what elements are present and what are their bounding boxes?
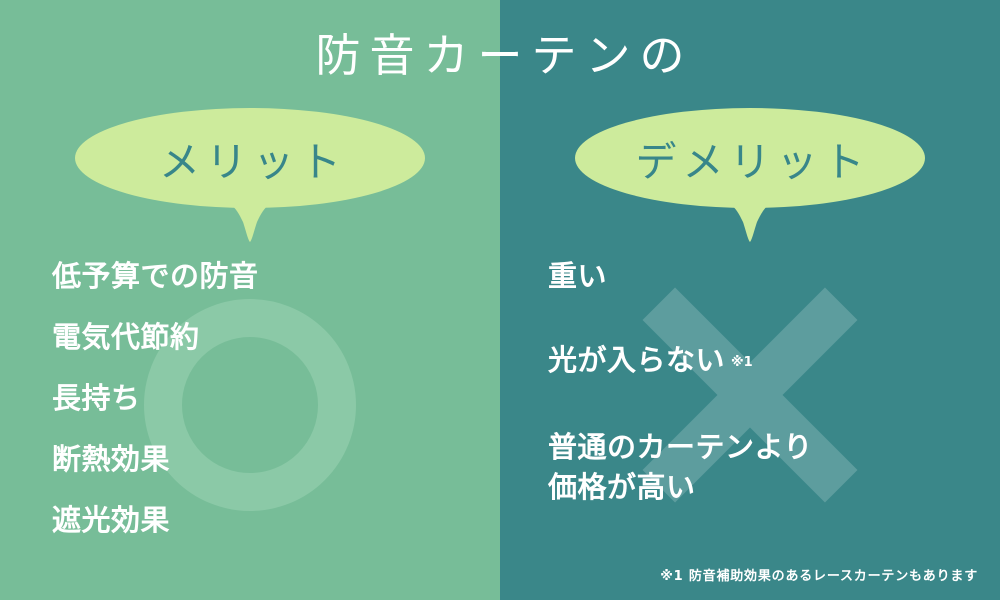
merit-bubble-label: メリット: [75, 108, 425, 208]
demerit-bubble: デメリット: [575, 108, 925, 208]
list-item: 長持ち: [52, 378, 452, 418]
list-item: 光が入らない※1: [548, 340, 948, 383]
footnote-marker: ※1: [731, 355, 753, 370]
demerit-item-text-line2: 価格が高い: [548, 467, 948, 507]
merit-item-text: 低予算での防音: [52, 259, 259, 293]
list-item: 重い: [548, 256, 948, 296]
infographic-canvas: 防音カーテンの メリット デメリット 低予算での防音 電気代節約 長持ち: [0, 0, 1000, 600]
list-item: 遮光効果: [52, 500, 452, 540]
demerit-list: 重い 光が入らない※1 普通のカーテンより 価格が高い: [548, 256, 948, 507]
merit-item-text: 長持ち: [52, 381, 141, 415]
list-item: 断熱効果: [52, 439, 452, 479]
demerit-item-text: 重い: [548, 259, 607, 293]
merit-item-text: 遮光効果: [52, 503, 170, 537]
footnote-text: ※1 防音補助効果のあるレースカーテンもあります: [660, 565, 978, 584]
list-item: 普通のカーテンより 価格が高い: [548, 427, 948, 507]
demerit-item-text: 普通のカーテンより: [548, 430, 813, 464]
merit-item-text: 電気代節約: [52, 320, 200, 354]
page-title: 防音カーテンの: [0, 26, 1000, 86]
demerit-bubble-label: デメリット: [575, 108, 925, 208]
merit-bubble: メリット: [75, 108, 425, 208]
demerit-item-text: 光が入らない: [548, 343, 725, 377]
list-item: 電気代節約: [52, 317, 452, 357]
merit-list: 低予算での防音 電気代節約 長持ち 断熱効果 遮光効果: [52, 256, 452, 540]
list-item: 低予算での防音: [52, 256, 452, 296]
merit-item-text: 断熱効果: [52, 442, 170, 476]
